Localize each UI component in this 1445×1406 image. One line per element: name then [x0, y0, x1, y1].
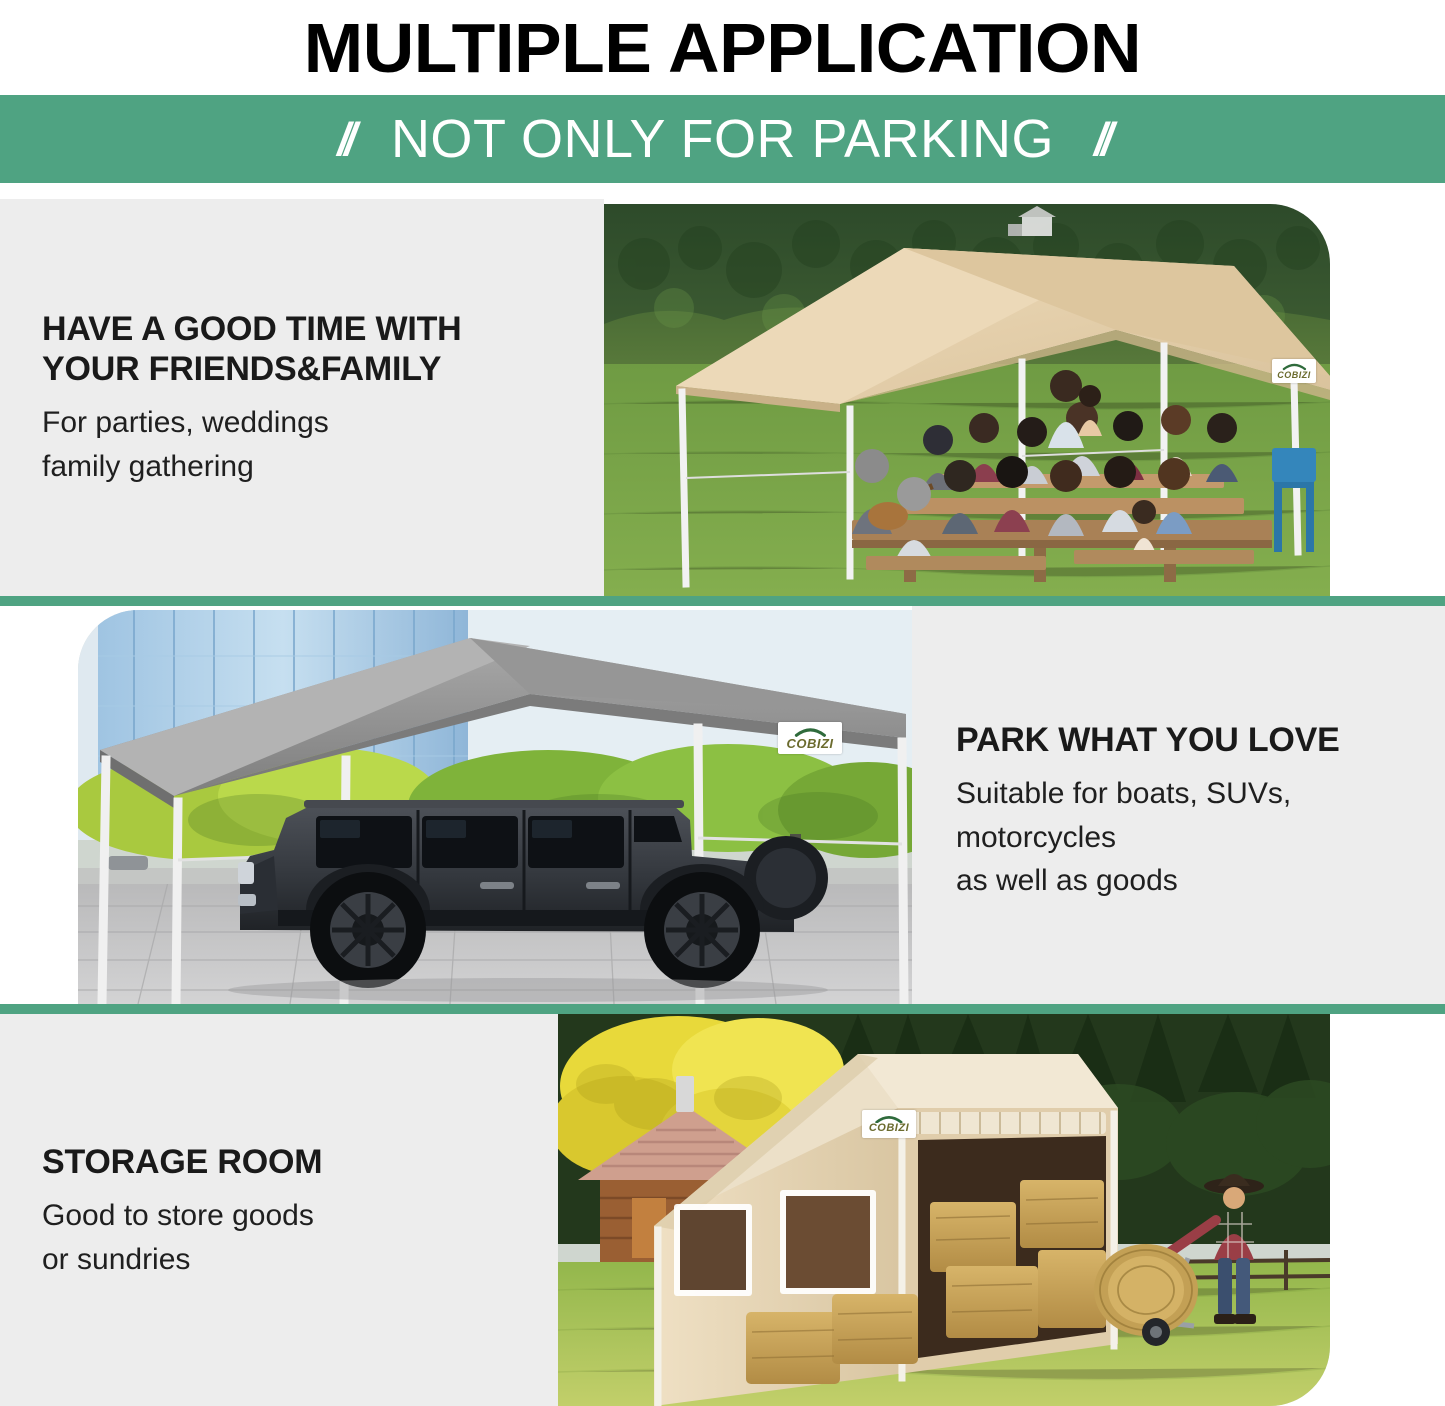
brand-logo-badge: COBIZI: [1272, 359, 1316, 383]
panel-park-title: PARK WHAT YOU LOVE: [956, 720, 1436, 760]
panel-family-title: HAVE A GOOD TIME WITH YOUR FRIENDS&FAMIL…: [42, 309, 582, 389]
slash-right-icon: //: [1094, 116, 1108, 162]
panel-storage-textbox: STORAGE ROOM Good to store goods or sund…: [0, 1014, 558, 1406]
storage-carport-illustration: [558, 1014, 1330, 1406]
brand-logo-name: COBIZI: [786, 737, 833, 750]
panel-storage-description: Good to store goods or sundries: [42, 1194, 542, 1281]
panel-park-photo: COBIZI: [78, 610, 912, 1004]
brand-logo-name: COBIZI: [869, 1123, 909, 1134]
family-canopy-illustration: [604, 204, 1330, 596]
panel-park-description: Suitable for boats, SUVs, motorcycles as…: [956, 772, 1436, 903]
park-suv-illustration: [78, 610, 912, 1004]
page-title-text: MULTIPLE APPLICATION: [304, 13, 1141, 83]
page-title: MULTIPLE APPLICATION: [0, 0, 1445, 95]
panel-family-photo: COBIZI: [604, 204, 1330, 596]
panel-family-description: For parties, weddings family gathering: [42, 401, 582, 488]
brand-logo-badge: COBIZI: [862, 1110, 916, 1138]
panel-park-textbox: PARK WHAT YOU LOVE Suitable for boats, S…: [912, 606, 1445, 1004]
brand-logo-name: COBIZI: [1277, 371, 1311, 380]
divider-rule-1: [0, 596, 1445, 606]
divider-rule-2: [0, 1004, 1445, 1014]
subtitle-banner: // NOT ONLY FOR PARKING //: [0, 95, 1445, 183]
panel-storage-photo: COBIZI: [558, 1014, 1330, 1406]
panel-storage-title: STORAGE ROOM: [42, 1142, 542, 1182]
subtitle-text: NOT ONLY FOR PARKING: [391, 112, 1054, 166]
slash-left-icon: //: [337, 116, 351, 162]
brand-logo-badge: COBIZI: [778, 722, 842, 754]
panel-family-textbox: HAVE A GOOD TIME WITH YOUR FRIENDS&FAMIL…: [0, 199, 604, 596]
